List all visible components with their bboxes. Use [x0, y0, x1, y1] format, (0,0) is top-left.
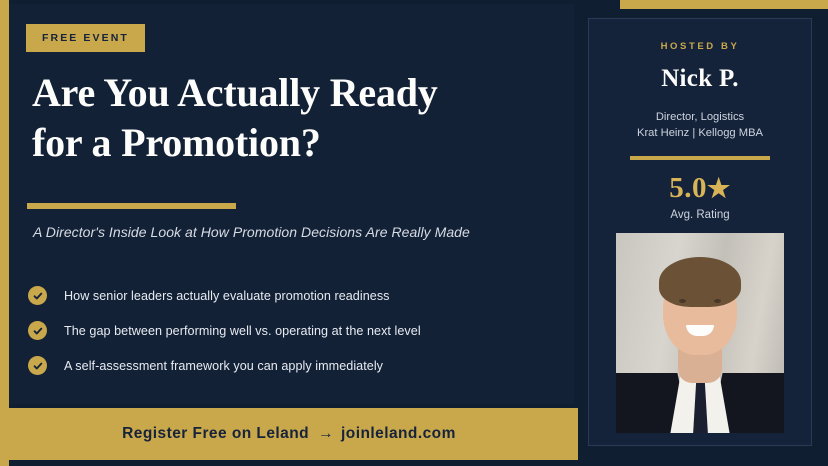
headshot-hair — [659, 257, 741, 307]
speaker-headshot-photo — [616, 233, 784, 433]
list-item: The gap between performing well vs. oper… — [28, 313, 548, 348]
speaker-title: Director, Logistics — [589, 109, 811, 125]
arrow-right-icon: → — [318, 425, 334, 443]
list-item-label: A self-assessment framework you can appl… — [64, 359, 383, 373]
star-icon: ★ — [707, 174, 731, 203]
page-title: Are You Actually Ready for a Promotion? — [32, 68, 552, 169]
headline-line-2: for a Promotion? — [32, 118, 552, 168]
list-item-label: The gap between performing well vs. oper… — [64, 324, 421, 338]
rating-label: Avg. Rating — [589, 209, 811, 221]
check-circle-icon — [28, 321, 47, 340]
benefits-list: How senior leaders actually evaluate pro… — [28, 278, 548, 383]
list-item-label: How senior leaders actually evaluate pro… — [64, 289, 390, 303]
hosted-by-label: HOSTED BY — [589, 41, 811, 52]
headline-line-1: Are You Actually Ready — [32, 70, 438, 115]
speaker-affiliation: Krat Heinz | Kellogg MBA — [589, 125, 811, 141]
rating-value: 5.0 — [669, 172, 707, 204]
panel-divider — [630, 156, 770, 160]
register-cta-button[interactable]: Register Free on Leland → joinleland.com — [0, 408, 578, 460]
speaker-panel: HOSTED BY Nick P. Director, Logistics Kr… — [588, 18, 812, 446]
speaker-credentials: Director, Logistics Krat Heinz | Kellogg… — [589, 109, 811, 141]
check-circle-icon — [28, 356, 47, 375]
speaker-name: Nick P. — [589, 65, 811, 93]
title-divider — [27, 203, 236, 209]
list-item: A self-assessment framework you can appl… — [28, 348, 548, 383]
rating-value-row: 5.0★ — [589, 174, 811, 203]
cta-url: joinleland.com — [341, 425, 456, 443]
event-promo-poster: FREE EVENT Are You Actually Ready for a … — [0, 0, 828, 466]
list-item: How senior leaders actually evaluate pro… — [28, 278, 548, 313]
top-right-gold-accent-bar — [620, 0, 828, 9]
check-circle-icon — [28, 286, 47, 305]
subtitle: A Director's Inside Look at How Promotio… — [33, 224, 553, 240]
cta-label: Register Free on Leland — [122, 425, 309, 443]
left-gold-accent-bar — [0, 0, 9, 466]
free-event-badge: FREE EVENT — [26, 24, 145, 52]
